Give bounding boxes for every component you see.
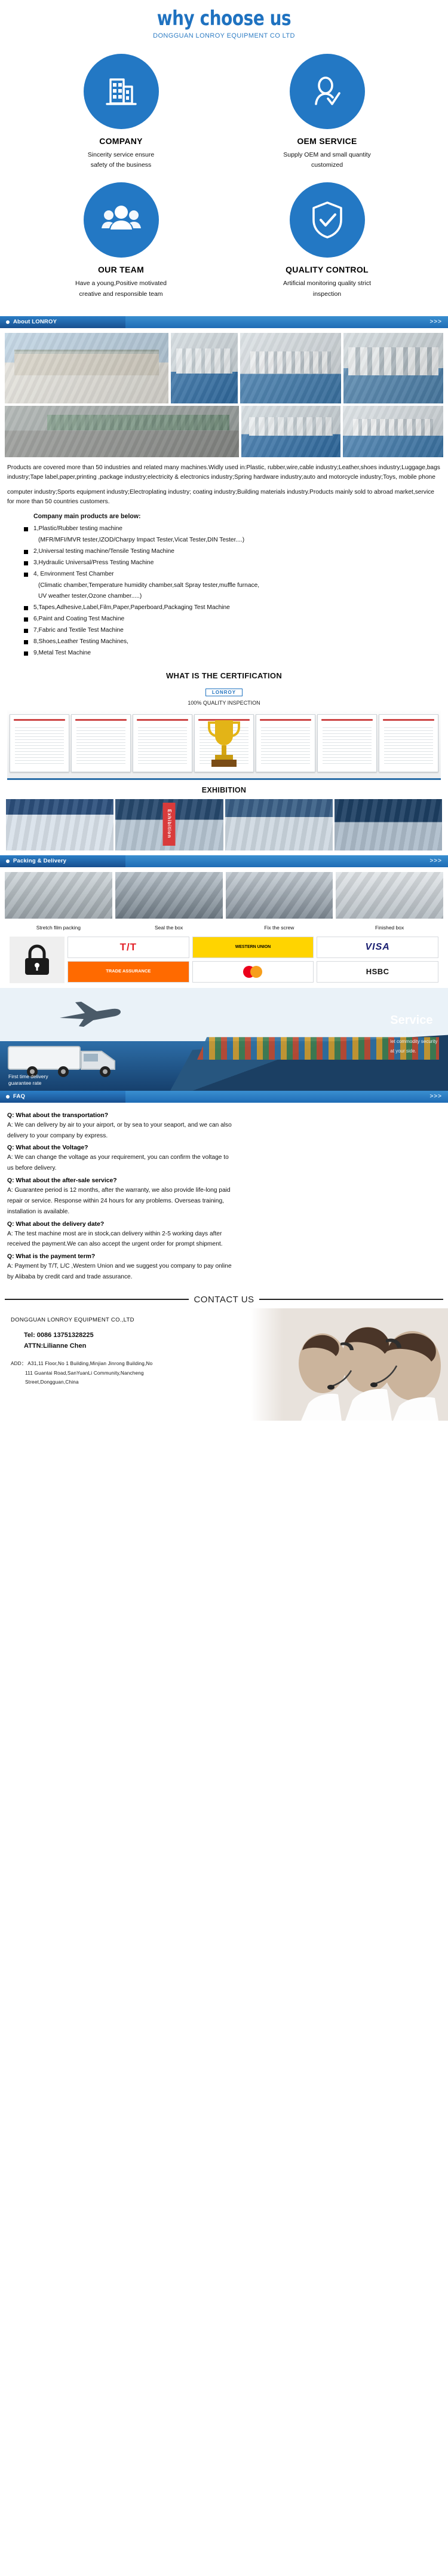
packing-section: Stretch film packing Seal the box Fix th…	[0, 867, 448, 986]
payment-logo-grid: T/T WESTERN UNION VISA TRADE ASSURANCE H…	[67, 937, 438, 983]
address-line-3: Street,Dongguan,China	[11, 1378, 208, 1387]
list-item: 2,Universal testing machine/Tensile Test…	[11, 546, 443, 558]
section-bar-label-wrap: FAQ	[0, 1091, 125, 1103]
certification-title: WHAT IS THE CERTIFICATION	[0, 671, 448, 680]
faq-more-link[interactable]: >>>	[429, 1091, 448, 1103]
feature-desc-line-2: customized	[231, 160, 423, 170]
products-heading: Company main products are below:	[5, 508, 443, 524]
faq-answer-line-1: A: Payment by T/T, L/C ,Western Union an…	[7, 1261, 441, 1272]
service-callout: Service Caring for your service, let com…	[390, 1014, 440, 1055]
certificates-image	[7, 711, 441, 780]
faq-answer-line-2: repair or service. Response within 24 ho…	[7, 1196, 441, 1207]
feature-card-our-team: OUR TEAM Have a young,Positive motivated…	[18, 180, 224, 305]
certificate-paper	[317, 714, 377, 772]
certification-subtitle: 100% QUALITY INSPECTION	[0, 700, 448, 706]
contact-address: ADD： A31,11 Floor,No 1 Building,Minjian …	[11, 1359, 208, 1387]
list-item: UV weather tester,Ozone chamber.....)	[11, 591, 443, 602]
feature-card-company: COMPANY Sincerity service ensure safety …	[18, 51, 224, 177]
people-group-icon	[84, 182, 159, 258]
faq-answer-line-2: delivery to your company by express.	[7, 1131, 441, 1142]
payment-methods-row: T/T WESTERN UNION VISA TRADE ASSURANCE H…	[5, 935, 443, 986]
faq-item: Q: What about the Voltage? A: We can cha…	[7, 1145, 441, 1174]
exhibition-ribbon-label: Exhibition	[163, 803, 176, 846]
why-choose-us-hero: why choose us DONGGUAN LONROY EQUIPMENT …	[0, 0, 448, 43]
list-item: 7,Fabric and Textile Test Machine	[11, 625, 443, 637]
faq-answer-line-1: A: The test machine most are in stock,ca…	[7, 1229, 441, 1240]
payment-logo-tt: T/T	[67, 937, 189, 958]
factory-gallery-row-2	[5, 406, 443, 457]
packing-step	[336, 872, 443, 919]
exhibition-photo	[225, 799, 333, 850]
list-item: 4, Environment Test Chamber	[11, 569, 443, 580]
certification-section: WHAT IS THE CERTIFICATION LONROY 100% QU…	[0, 665, 448, 782]
packing-step	[5, 872, 112, 919]
about-more-link[interactable]: >>>	[429, 316, 448, 328]
exhibition-title: EXHIBITION	[0, 786, 448, 794]
faq-answer-line-2: by Alibaba by credit card and trade assu…	[7, 1272, 441, 1283]
contact-title: CONTACT US	[194, 1295, 254, 1305]
feature-card-quality-control: QUALITY CONTROL Artificial monitoring qu…	[224, 180, 430, 305]
packing-caption: Stretch film packing	[5, 922, 112, 935]
workshop-photo-2	[343, 406, 443, 457]
packing-caption: Finished box	[336, 922, 443, 935]
faq-answer-line-2: us before delivery.	[7, 1163, 441, 1174]
service-title: Service	[390, 1014, 440, 1026]
address-line-1: ADD： A31,11 Floor,No 1 Building,Minjian …	[11, 1361, 152, 1366]
exhibition-grid: Exhibition	[0, 799, 448, 850]
bullet-dot-icon	[6, 1095, 10, 1099]
payment-logo-trade-assurance: TRADE ASSURANCE	[67, 961, 189, 983]
trophy-icon	[203, 715, 245, 773]
certificate-paper	[71, 714, 131, 772]
faq-item: Q: What about the transportation? A: We …	[7, 1112, 441, 1142]
section-bar-label-wrap: Packing & Delivery	[0, 855, 125, 867]
factory-photo-machines-1	[240, 333, 341, 403]
contact-details: DONGGUAN LONROY EQUIPMENT CO.,LTD Tel: 0…	[0, 1308, 448, 1387]
airplane-icon	[57, 998, 124, 1027]
divider-right	[259, 1299, 443, 1300]
section-bar-faq: FAQ >>>	[0, 1091, 448, 1103]
hero-subtitle: DONGGUAN LONROY EQUIPMENT CO LTD	[0, 32, 448, 39]
address-line-2: 111 Guantai Road,SanYuanLi Community,Nan…	[11, 1369, 208, 1378]
warehouse-photo	[5, 406, 239, 457]
list-item: 1,Plastic/Rubber testing machine	[11, 524, 443, 535]
section-bar-packing: Packing & Delivery >>>	[0, 855, 448, 867]
feature-desc-line-2: inspection	[231, 289, 423, 299]
section-title-faq: FAQ	[13, 1093, 25, 1100]
feature-desc-line-2: safety of the business	[25, 160, 217, 170]
delivery-caption-line-1: First time delivery	[8, 1073, 48, 1080]
feature-card-oem-service: OEM SERVICE Supply OEM and small quantit…	[224, 51, 430, 177]
workshop-photo-1	[241, 406, 340, 457]
exhibition-photo	[6, 799, 113, 850]
delivery-guarantee-caption: First time delivery guarantee rate	[8, 1073, 48, 1087]
feature-title: OUR TEAM	[25, 265, 217, 274]
feature-desc-line-1: Have a young,Positive motivated	[25, 279, 217, 289]
faq-answer-line-2: received the payment.We can also accept …	[7, 1239, 441, 1250]
packing-more-link[interactable]: >>>	[429, 855, 448, 867]
packing-step	[115, 872, 223, 919]
feature-title: COMPANY	[25, 136, 217, 146]
factory-photo-lab-1	[171, 333, 237, 403]
exhibition-section: EXHIBITION Exhibition	[0, 782, 448, 855]
contact-heading: CONTACT US	[0, 1295, 448, 1308]
faq-answer-line-1: A: Guarantee period is 12 months, after …	[7, 1185, 441, 1196]
faq-item: Q: What about the after-sale service? A:…	[7, 1177, 441, 1217]
faq-item: Q: What about the delivery date? A: The …	[7, 1221, 441, 1250]
page-title: why choose us	[41, 8, 408, 30]
faq-section: Q: What about the transportation? A: We …	[0, 1103, 448, 1286]
certificate-paper	[379, 714, 438, 772]
faq-item: Q: What is the payment term? A: Payment …	[7, 1253, 441, 1283]
certificate-paper	[10, 714, 69, 772]
packing-caption: Fix the screw	[226, 922, 333, 935]
list-item: 6,Paint and Coating Test Machine	[11, 614, 443, 625]
feature-desc-line-1: Sincerity service ensure	[25, 150, 217, 160]
faq-question: Q: What about the delivery date?	[7, 1221, 441, 1228]
packing-photo	[115, 872, 223, 919]
product-detail-page: why choose us DONGGUAN LONROY EQUIPMENT …	[0, 0, 448, 1421]
list-item: 8,Shoes,Leather Testing Machines,	[11, 637, 443, 648]
mastercard-icon	[243, 966, 262, 978]
shield-check-icon	[290, 182, 365, 258]
certificate-paper	[256, 714, 315, 772]
factory-photo-exterior	[5, 333, 168, 403]
section-title-about: About LONROY	[13, 319, 57, 325]
lonroy-logo-badge: LONROY	[205, 689, 243, 696]
faq-question: Q: What about the after-sale service?	[7, 1177, 441, 1184]
faq-answer-line-3: installation is available.	[7, 1207, 441, 1217]
divider-left	[5, 1299, 189, 1300]
exhibition-photo: Exhibition	[115, 799, 223, 850]
service-sub-line-3: at your side.	[390, 1048, 440, 1055]
shipping-service-banner: Service Caring for your service, let com…	[0, 988, 448, 1091]
bullet-dot-icon	[6, 859, 10, 863]
payment-logo-hsbc: HSBC	[317, 961, 438, 983]
about-paragraph-1: Products are covered more than 50 indust…	[5, 460, 443, 484]
list-item: 5,Tapes,Adhesive,Label,Film,Paper,Paperb…	[11, 602, 443, 614]
feature-desc-line-2: creative and responsible team	[25, 289, 217, 299]
contact-company-name: DONGGUAN LONROY EQUIPMENT CO.,LTD	[11, 1317, 448, 1323]
secure-payment-lock-icon	[10, 937, 65, 983]
feature-title: OEM SERVICE	[231, 136, 423, 146]
payment-logo-western-union: WESTERN UNION	[192, 937, 314, 958]
about-paragraph-2: computer industry;Sports equipment indus…	[5, 484, 443, 509]
packing-photo	[226, 872, 333, 919]
contact-body: DONGGUAN LONROY EQUIPMENT CO.,LTD Tel: 0…	[0, 1308, 448, 1421]
feature-title: QUALITY CONTROL	[231, 265, 423, 274]
faq-question: Q: What is the payment term?	[7, 1253, 441, 1260]
packing-photo	[336, 872, 443, 919]
bullet-dot-icon	[6, 320, 10, 324]
faq-answer-line-1: A: We can delivery by air to your airpor…	[7, 1120, 441, 1131]
section-bar-about: About LONROY >>>	[0, 316, 448, 328]
packing-step	[226, 872, 333, 919]
list-item: 9,Metal Test Machine	[11, 648, 443, 659]
section-bar-label-wrap: About LONROY	[0, 316, 125, 328]
user-check-icon	[290, 54, 365, 129]
service-sub-line-1: Caring for your service,	[390, 1029, 440, 1036]
section-title-packing: Packing & Delivery	[13, 858, 66, 864]
payment-logo-mastercard	[192, 961, 314, 983]
products-list: 1,Plastic/Rubber testing machine (MFR/MF…	[5, 524, 443, 665]
about-section: Products are covered more than 50 indust…	[0, 328, 448, 665]
packing-steps-grid: Stretch film packing Seal the box Fix th…	[5, 872, 443, 935]
factory-gallery-row-1	[5, 333, 443, 403]
contact-telephone[interactable]: Tel: 0086 13751328225	[11, 1332, 448, 1339]
packing-photo	[5, 872, 112, 919]
exhibition-photo	[335, 799, 442, 850]
delivery-caption-line-2: guarantee rate	[8, 1080, 48, 1087]
list-item: (MFR/MFI/MVR tester,IZOD/Charpy Impact T…	[11, 535, 443, 546]
feature-desc-line-1: Supply OEM and small quantity	[231, 150, 423, 160]
factory-photo-machines-2	[343, 333, 443, 403]
packing-caption: Seal the box	[115, 922, 223, 935]
faq-answer-line-1: A: We can change the voltage as your req…	[7, 1152, 441, 1163]
payment-logo-visa: VISA	[317, 937, 438, 958]
building-icon	[84, 54, 159, 129]
faq-question: Q: What about the Voltage?	[7, 1145, 441, 1151]
list-item: (Climatic chamber,Temperature humidity c…	[11, 580, 443, 592]
contact-attention-name: ATTN:Lilianne Chen	[11, 1342, 448, 1350]
list-item: 3,Hydraulic Universal/Press Testing Mach…	[11, 558, 443, 569]
certificate-paper	[133, 714, 192, 772]
faq-question: Q: What about the transportation?	[7, 1112, 441, 1119]
contact-section: CONTACT US	[0, 1286, 448, 1421]
feature-grid: COMPANY Sincerity service ensure safety …	[0, 43, 448, 316]
feature-desc-line-1: Artificial monitoring quality strict	[231, 279, 423, 289]
service-sub-line-2: let commodity security	[390, 1038, 440, 1045]
